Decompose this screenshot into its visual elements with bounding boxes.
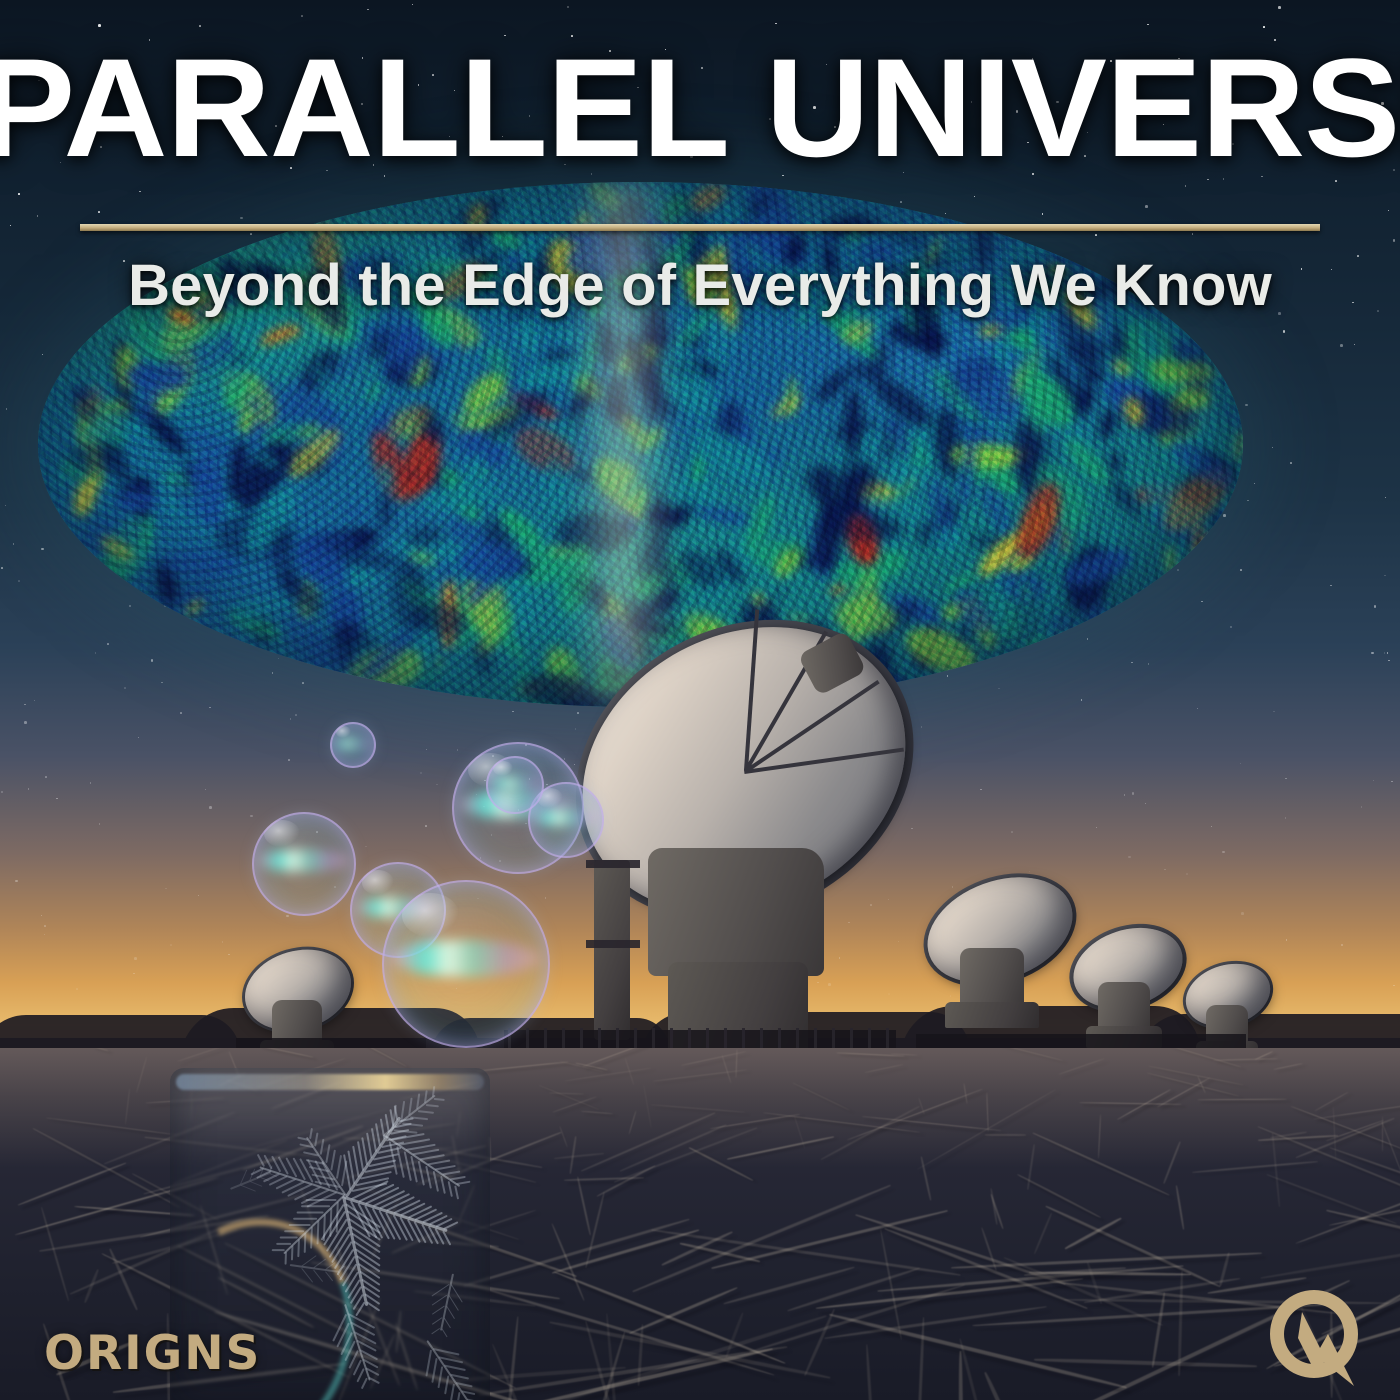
q-lightning-logo-icon	[1258, 1282, 1370, 1394]
brand-wordmark: ORIGNS	[44, 1326, 261, 1381]
podcast-cover-art: PARALLEL UNIVERSES Beyond the Edge of Ev…	[0, 0, 1400, 1400]
title-divider-rule	[80, 224, 1320, 231]
page-title: PARALLEL UNIVERSES	[0, 38, 1400, 178]
glass-rim-highlight	[176, 1074, 484, 1090]
page-subtitle: Beyond the Edge of Everything We Know	[0, 250, 1400, 323]
